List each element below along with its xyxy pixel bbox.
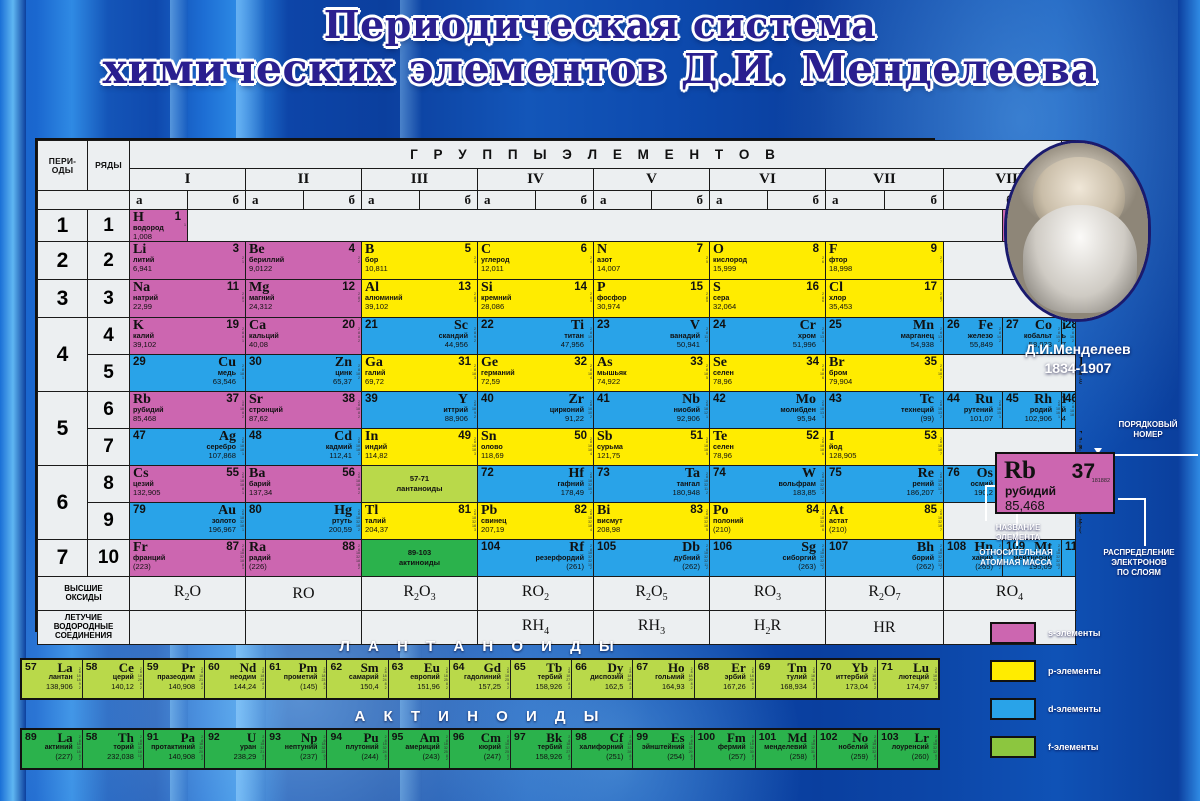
element-C[interactable]: C6углерод12,01124 bbox=[478, 242, 594, 280]
element-symbol: Nd bbox=[240, 661, 257, 674]
header-IVb: б bbox=[536, 191, 594, 210]
element-name: цирконий bbox=[550, 406, 584, 413]
legend-swatch-p bbox=[990, 660, 1036, 682]
element-mass: 150,4 bbox=[360, 683, 379, 690]
element-Er-68[interactable]: 68Erэрбий167,2628183082 bbox=[694, 659, 755, 699]
element-mass: (145) bbox=[300, 683, 317, 690]
element-Ca[interactable]: Ca20кальций40,082882 bbox=[246, 318, 362, 355]
element-name: цезий bbox=[133, 480, 154, 487]
element-Re[interactable]: Re75рений186,207281832132 bbox=[826, 466, 944, 503]
element-number: 59 bbox=[147, 661, 159, 673]
electron-shells: 281832112 bbox=[704, 467, 708, 501]
electron-shells: 2818321882 bbox=[356, 541, 360, 575]
element-Tb-65[interactable]: 65Tbтербий158,92628182782 bbox=[511, 659, 572, 699]
element-name: астат bbox=[829, 517, 848, 524]
electron-shells: 2818187 bbox=[938, 430, 942, 464]
element-Pa-91[interactable]: 91Paпротактиний140,9082818322092 bbox=[143, 729, 204, 769]
period-2: 2 bbox=[38, 242, 88, 280]
element-Pb[interactable]: Pb82свинец207,19281832184 bbox=[478, 503, 594, 540]
element-Li[interactable]: Li3литий6,94121 bbox=[130, 242, 246, 280]
element-U-92[interactable]: 92Uуран238,292818322192 bbox=[205, 729, 266, 769]
element-symbol: Pa bbox=[181, 731, 195, 744]
element-name: технеций bbox=[901, 406, 934, 413]
element-La-57[interactable]: 57Laлантан138,90628181892 bbox=[21, 659, 82, 699]
oxide-IV: RO2 bbox=[478, 577, 594, 611]
element-Tm-69[interactable]: 69Tmтулий168,93428183182 bbox=[755, 659, 816, 699]
element-Mo[interactable]: Mo42молибден95,942818131 bbox=[710, 392, 826, 429]
element-Cl[interactable]: Cl17хлор35,453287 bbox=[826, 280, 944, 318]
element-mass: (258) bbox=[790, 753, 807, 760]
element-number: 92 bbox=[208, 731, 220, 743]
electron-shells: 24 bbox=[590, 243, 592, 278]
element-V[interactable]: V23ванадий50,94128112 bbox=[594, 318, 710, 355]
element-Pr-59[interactable]: 59Prпразеодим140,90828182182 bbox=[143, 659, 204, 699]
element-K[interactable]: K19калий39,1022881 bbox=[130, 318, 246, 355]
element-mass: 44,956 bbox=[445, 341, 468, 349]
element-number: 7 bbox=[697, 243, 703, 255]
element-number: 40 bbox=[481, 393, 494, 405]
element-name: самарий bbox=[349, 674, 379, 681]
legend-swatch-f bbox=[990, 736, 1036, 758]
element-Ce-58[interactable]: 58Ceцерий140,1228182082 bbox=[82, 659, 143, 699]
element-name: гольмий bbox=[655, 674, 684, 681]
element-mass: 51,996 bbox=[793, 341, 816, 349]
element-Na[interactable]: Na11натрий22,99281 bbox=[130, 280, 246, 318]
element-mass: 79,904 bbox=[829, 378, 852, 386]
element-Bh[interactable]: Bh107борий(262)28183232132 bbox=[826, 540, 944, 577]
header-IIIb: б bbox=[420, 191, 478, 210]
legend-label-d: d-элементы bbox=[1048, 704, 1101, 714]
header-group-VII: VII bbox=[826, 169, 944, 191]
element-number: 79 bbox=[133, 504, 146, 516]
electron-shells: 286 bbox=[822, 281, 824, 316]
element-number: 66 bbox=[575, 661, 587, 673]
element-Ge[interactable]: Ge32германий72,5928184 bbox=[478, 355, 594, 392]
element-symbol: Eu bbox=[424, 661, 440, 674]
element-Zn[interactable]: Zn30цинк65,3728182 bbox=[246, 355, 362, 392]
element-Al[interactable]: Al13алюминий39,102283 bbox=[362, 280, 478, 318]
element-Rf[interactable]: Rf104резерфордий(261)28183232102 bbox=[478, 540, 594, 577]
element-number: 52 bbox=[806, 430, 819, 442]
element-Hg[interactable]: Hg80ртуть200,59281832182 bbox=[246, 503, 362, 540]
element-Cs[interactable]: Cs55цезий132,90528181881 bbox=[130, 466, 246, 503]
electron-shells: 2818182 bbox=[356, 430, 360, 464]
row-1: 1 bbox=[88, 210, 130, 242]
row-3: 3 bbox=[88, 280, 130, 318]
element-Ta[interactable]: Ta73тангал180,948281832112 bbox=[594, 466, 710, 503]
legend-item-s: s-элементы bbox=[990, 622, 1100, 644]
element-mass: (243) bbox=[423, 753, 440, 760]
oxide-V: R2O5 bbox=[594, 577, 710, 611]
element-Es-99[interactable]: 99Esэйнштейний(254)2818322982 bbox=[633, 729, 694, 769]
element-name: прометий bbox=[284, 674, 318, 681]
element-number: 88 bbox=[342, 541, 355, 553]
header-rows: РЯДЫ bbox=[88, 141, 130, 191]
legend-item-d: d-элементы bbox=[990, 698, 1101, 720]
element-name: нобелий bbox=[838, 744, 868, 751]
element-name: резерфордий bbox=[536, 554, 584, 561]
element-number: 75 bbox=[829, 467, 842, 479]
element-I[interactable]: I53йод128,9052818187 bbox=[826, 429, 944, 466]
row-8: 8 bbox=[88, 466, 130, 503]
element-number: 21 bbox=[365, 319, 378, 331]
element-mass: 40,08 bbox=[249, 341, 268, 349]
element-name: палладий bbox=[1062, 406, 1066, 413]
element-number: 107 bbox=[829, 541, 848, 553]
element-name: фосфор bbox=[597, 294, 626, 301]
element-Sr[interactable]: Sr38стронций87,62281882 bbox=[246, 392, 362, 429]
element-Dy-66[interactable]: 66Dyдиспозий162,528182882 bbox=[572, 659, 633, 699]
element-number: 58 bbox=[86, 731, 98, 743]
element-number: 1 bbox=[175, 211, 181, 223]
electron-shells: 28182082 bbox=[138, 661, 142, 697]
element-symbol: Lu bbox=[913, 661, 929, 674]
element-Mg[interactable]: Mg12магний24,312282 bbox=[246, 280, 362, 318]
element-mass: 144,24 bbox=[234, 683, 257, 690]
element-Lr-103[interactable]: 103Lrлоуренсий(260)2818323292 bbox=[878, 729, 939, 769]
element-Tc[interactable]: Tc43технеций(99)2818132 bbox=[826, 392, 944, 429]
element-O[interactable]: O8кислород15,99926 bbox=[710, 242, 826, 280]
element-mass: 238,29 bbox=[234, 753, 257, 760]
electron-shells: 26 bbox=[822, 243, 824, 278]
element-number: 81 bbox=[458, 504, 471, 516]
electron-shells: 2818322482 bbox=[383, 731, 387, 767]
element-Sg[interactable]: Sg106сиборгий(263)28183232122 bbox=[710, 540, 826, 577]
element-name: железо bbox=[968, 332, 993, 339]
element-number: 83 bbox=[690, 504, 703, 516]
element-H[interactable]: H 1 водород 1,008 1 bbox=[130, 210, 188, 242]
electron-shells: 28186 bbox=[820, 356, 824, 390]
element-No-102[interactable]: 102Noнобелий(259)2818323282 bbox=[816, 729, 877, 769]
element-Mn[interactable]: Mn25марганец54,93828132 bbox=[826, 318, 944, 355]
electron-shells: 2818322292 bbox=[321, 731, 325, 767]
element-Y[interactable]: Y39иттрий88,906281892 bbox=[362, 392, 478, 429]
element-name: гафний bbox=[558, 480, 584, 487]
header-groups-title: Г Р У П П Ы Э Л Е М Е Н Т О В bbox=[130, 141, 1062, 169]
element-Ba[interactable]: Ba56барий137,3428181882 bbox=[246, 466, 362, 503]
element-number: 98 bbox=[575, 731, 587, 743]
electron-shells: 2818183 bbox=[472, 430, 476, 464]
element-At[interactable]: At85астат(210)281832187 bbox=[826, 503, 944, 540]
element-symbol: Pr bbox=[181, 661, 195, 674]
element-W[interactable]: W74вольфрам183,85281832122 bbox=[710, 466, 826, 503]
electron-shells: 2818132 bbox=[938, 393, 942, 427]
element-Cu[interactable]: Cu29медь63,54628181 bbox=[130, 355, 246, 392]
element-Ti[interactable]: Ti22титан47,95628102 bbox=[478, 318, 594, 355]
element-Zr[interactable]: Zr40цирконий91,222818102 bbox=[478, 392, 594, 429]
example-electron-shells: 181882 bbox=[1092, 478, 1110, 484]
element-mass: (257) bbox=[728, 753, 745, 760]
electron-shells: 2818321881 bbox=[240, 541, 244, 575]
electron-shells: 285 bbox=[706, 281, 708, 316]
element-name: литий bbox=[133, 256, 154, 263]
header-group-V: V bbox=[594, 169, 710, 191]
element-mass: 158,926 bbox=[535, 683, 562, 690]
element-number: 13 bbox=[458, 281, 471, 293]
actinide-range: 89-103 bbox=[408, 548, 431, 557]
electron-shells: 28131 bbox=[820, 319, 824, 353]
actinide-placeholder[interactable]: 89-103 актиноиды bbox=[362, 540, 478, 577]
element-mass: 6,941 bbox=[133, 265, 152, 273]
element-Fr[interactable]: Fr87франций(223)2818321881 bbox=[130, 540, 246, 577]
element-name: лютеций bbox=[899, 674, 929, 681]
legend-item-f: f-элементы bbox=[990, 736, 1098, 758]
element-Bi[interactable]: Bi83висмут208,98281832185 bbox=[594, 503, 710, 540]
element-Cr[interactable]: Cr24хром51,99628131 bbox=[710, 318, 826, 355]
element-number: 45 bbox=[1006, 393, 1019, 405]
electron-shells: 2818322592 bbox=[505, 731, 509, 767]
callout-atomic-number: ПОРЯДКОВЫЙ НОМЕР bbox=[1100, 420, 1196, 440]
element-name: золото bbox=[212, 517, 236, 524]
element-Br[interactable]: Br35бром79,90428187 bbox=[826, 355, 944, 392]
element-number: 100 bbox=[698, 731, 716, 743]
element-mass: 87,62 bbox=[249, 415, 268, 423]
element-mass: 112,41 bbox=[329, 452, 352, 460]
element-Nd-60[interactable]: 60Ndнеодим144,2428182282 bbox=[205, 659, 266, 699]
element-Pu-94[interactable]: 94Puплутоний(244)2818322482 bbox=[327, 729, 388, 769]
mendeleev-caption: Д.И.Менделеев 1834-1907 bbox=[960, 340, 1196, 378]
element-Md-101[interactable]: 101Mdменделевий(258)2818323182 bbox=[755, 729, 816, 769]
element-mass: 15,999 bbox=[713, 265, 736, 273]
element-Be[interactable]: Be4бериллий9,012222 bbox=[246, 242, 362, 280]
header-spacer bbox=[38, 191, 130, 210]
element-mass: (210) bbox=[713, 526, 731, 534]
header-IIa: а bbox=[246, 191, 304, 210]
header-IIb: б bbox=[304, 191, 362, 210]
header-VIIa: а bbox=[826, 191, 885, 210]
element-Am-95[interactable]: 95Amамериций(243)2818322582 bbox=[388, 729, 449, 769]
element-mass: 200,59 bbox=[329, 526, 352, 534]
element-number: 97 bbox=[514, 731, 526, 743]
element-number: 55 bbox=[226, 467, 239, 479]
electron-shells: 28182182 bbox=[199, 661, 203, 697]
element-Gd-64[interactable]: 64Gdгадолиний157,2528182592 bbox=[449, 659, 510, 699]
element-mass: 91,22 bbox=[565, 415, 584, 423]
element-F[interactable]: F9фтор18,99827 bbox=[826, 242, 944, 280]
electron-shells: 28185 bbox=[704, 356, 708, 390]
element-Si[interactable]: Si14кремний28,086284 bbox=[478, 280, 594, 318]
element-name: бор bbox=[365, 256, 378, 263]
element-number: 26 bbox=[947, 319, 960, 331]
element-mass: 10,811 bbox=[365, 265, 388, 273]
element-number: 47 bbox=[133, 430, 146, 442]
electron-shells: 281882 bbox=[356, 393, 360, 427]
element-Ru[interactable]: Ru44рутений101,072818151 bbox=[944, 392, 1003, 429]
element-name: америций bbox=[405, 744, 439, 751]
element-number: 4 bbox=[349, 243, 355, 255]
element-number: 29 bbox=[133, 356, 146, 368]
element-P[interactable]: P15фосфор30,974285 bbox=[594, 280, 710, 318]
element-Rh[interactable]: Rh45родий102,9062818161 bbox=[1003, 392, 1062, 429]
element-Po[interactable]: Po84полоний(210)281832186 bbox=[710, 503, 826, 540]
oxide-II: RO bbox=[246, 577, 362, 611]
element-mass: 114,82 bbox=[365, 452, 388, 460]
electron-shells: 281832183 bbox=[472, 504, 476, 538]
electron-shells: 28182782 bbox=[566, 661, 570, 697]
element-mass: (227) bbox=[55, 753, 72, 760]
element-Cm-96[interactable]: 96Cmкюрий(247)2818322592 bbox=[449, 729, 510, 769]
element-mass: 118,69 bbox=[481, 452, 504, 460]
element-Pm-61[interactable]: 61Pmпрометий(145)28182382 bbox=[266, 659, 327, 699]
element-Ho-67[interactable]: 67Hoгольмий164,9328182982 bbox=[633, 659, 694, 699]
element-symbol: Bk bbox=[546, 731, 562, 744]
element-mass: 88,906 bbox=[445, 415, 468, 423]
element-Cf-98[interactable]: 98Cfхалифорний(251)2818322882 bbox=[572, 729, 633, 769]
electron-shells: 2818181 bbox=[240, 430, 244, 464]
element-Yb-70[interactable]: 70Ybиттербий173,0428183282 bbox=[816, 659, 877, 699]
example-element-Rb[interactable]: Rb 37 рубидий 85,468 181882 bbox=[995, 452, 1115, 514]
element-Se[interactable]: Se34селен78,9628186 bbox=[710, 355, 826, 392]
element-mass: 183,85 bbox=[793, 489, 816, 497]
header-Ia: а bbox=[130, 191, 188, 210]
element-name: хлор bbox=[829, 294, 846, 301]
element-Ag[interactable]: Ag47серебро107,8682818181 bbox=[130, 429, 246, 466]
element-name: уран bbox=[240, 744, 256, 751]
element-symbol: Er bbox=[731, 661, 745, 674]
element-Sb[interactable]: Sb51сурьма121,752818185 bbox=[594, 429, 710, 466]
element-mass: 47,956 bbox=[561, 341, 584, 349]
row-6: 6 bbox=[88, 392, 130, 429]
element-name: гадолиний bbox=[464, 674, 501, 681]
actinide-label: актиноиды bbox=[399, 558, 440, 567]
element-Tl[interactable]: Tl81талий204,37281832183 bbox=[362, 503, 478, 540]
element-name: мышьяк bbox=[597, 369, 627, 376]
row-4: 4 bbox=[88, 318, 130, 355]
electron-shells: 281892 bbox=[472, 393, 476, 427]
element-Sc[interactable]: Sc21скандий44,9562892 bbox=[362, 318, 478, 355]
element-name: бериллий bbox=[249, 256, 284, 263]
element-Au[interactable]: Au79золото196,967281832181 bbox=[130, 503, 246, 540]
element-name: лоуренсий bbox=[892, 744, 929, 751]
element-In[interactable]: In49индий114,822818183 bbox=[362, 429, 478, 466]
electron-shells: 2818102 bbox=[588, 393, 592, 427]
element-mass: (244) bbox=[361, 753, 378, 760]
element-Lu-71[interactable]: 71Luлютеций174,9728183292 bbox=[878, 659, 939, 699]
element-N[interactable]: N7азот14,00725 bbox=[594, 242, 710, 280]
header-group-IV: IV bbox=[478, 169, 594, 191]
element-Sm-62[interactable]: 62Smсамарий150,428182482 bbox=[327, 659, 388, 699]
element-mass: 32,064 bbox=[713, 303, 736, 311]
element-number: 11 bbox=[227, 281, 239, 293]
electron-shells: 2818322582 bbox=[444, 731, 448, 767]
element-mass: (262) bbox=[682, 563, 700, 571]
element-mass: 12,011 bbox=[481, 265, 504, 273]
lanthanide-label: лантаноиды bbox=[396, 484, 442, 493]
electron-shells: 28183292 bbox=[933, 661, 937, 697]
element-Sn[interactable]: Sn50олово118,692818184 bbox=[478, 429, 594, 466]
element-mass: 101,07 bbox=[970, 415, 993, 423]
element-mass: 106,4 bbox=[1062, 415, 1066, 423]
element-As[interactable]: As33мышьяк74,92228185 bbox=[594, 355, 710, 392]
element-Ga[interactable]: Ga31галий69,7228183 bbox=[362, 355, 478, 392]
electron-shells: 284 bbox=[590, 281, 592, 316]
element-Pd[interactable]: Pd46палладий106,4281818 bbox=[1062, 392, 1076, 429]
electron-shells: 28182592 bbox=[505, 661, 509, 697]
element-name: хром bbox=[798, 332, 816, 339]
element-name: диспозий bbox=[590, 674, 623, 681]
element-S[interactable]: S16сера32,064286 bbox=[710, 280, 826, 318]
electron-shells: 28183082 bbox=[750, 661, 754, 697]
element-name: ниобий bbox=[674, 406, 700, 413]
element-number: 94 bbox=[330, 731, 342, 743]
element-La-89[interactable]: 89Laактиний(227)2818321892 bbox=[21, 729, 82, 769]
element-mass: 92,906 bbox=[677, 415, 700, 423]
electron-shells: 28181881 bbox=[240, 467, 244, 501]
table-row-period3: 3 3 Na11натрий22,99281 Mg12магний24,3122… bbox=[38, 280, 1076, 318]
element-Hf[interactable]: Hf72гафний178,49281832102 bbox=[478, 466, 594, 503]
oxide-VIII: RO4 bbox=[944, 577, 1076, 611]
lanthanide-band-title: Л А Н Т А Н О И Д Ы bbox=[20, 638, 940, 655]
legend-label-p: p-элементы bbox=[1048, 666, 1101, 676]
element-number: 51 bbox=[690, 430, 703, 442]
electron-shells: 2818322882 bbox=[627, 731, 631, 767]
element-symbol: Np bbox=[301, 731, 318, 744]
element-B[interactable]: B5бор10,81123 bbox=[362, 242, 478, 280]
element-mass: 132,905 bbox=[133, 489, 160, 497]
element-number: 105 bbox=[597, 541, 616, 553]
table-row-period6b: 9 Au79золото196,967281832181 Hg80ртуть20… bbox=[38, 503, 1076, 540]
element-Rb[interactable]: Rb37рубидий85,468181882 bbox=[130, 392, 246, 429]
element-Bk-97[interactable]: 97Bkтербий158,9262818322782 bbox=[511, 729, 572, 769]
element-name: талий bbox=[365, 517, 386, 524]
electron-shells: 2818322782 bbox=[566, 731, 570, 767]
element-number: 20 bbox=[342, 319, 355, 331]
element-name: иттрий bbox=[443, 406, 468, 413]
row-9: 9 bbox=[88, 503, 130, 540]
element-Te[interactable]: Te52селен78,962818186 bbox=[710, 429, 826, 466]
lanthanide-placeholder[interactable]: 57-71 лантаноиды bbox=[362, 466, 478, 503]
element-number: 38 bbox=[342, 393, 355, 405]
element-Eu-63[interactable]: 63Euевропий151,9628182582 bbox=[388, 659, 449, 699]
element-Nb[interactable]: Nb41ниобий92,9062818121 bbox=[594, 392, 710, 429]
oxides-label: ВЫСШИЕОКСИДЫ bbox=[38, 577, 130, 611]
element-name: ванадий bbox=[670, 332, 700, 339]
element-Cd[interactable]: Cd48кадмий112,412818182 bbox=[246, 429, 362, 466]
element-mass: 204,37 bbox=[365, 526, 388, 534]
element-mass: 39,102 bbox=[133, 341, 156, 349]
element-symbol: Tb bbox=[546, 661, 562, 674]
electron-shells: 28182482 bbox=[383, 661, 387, 697]
element-name: полоний bbox=[713, 517, 744, 524]
electron-shells: 28183232132 bbox=[938, 541, 942, 575]
element-Ra[interactable]: Ra88радий(226)2818321882 bbox=[246, 540, 362, 577]
table-row-period2: 2 2 Li3литий6,94121 Be4бериллий9,012222 … bbox=[38, 242, 1076, 280]
element-mass: 65,37 bbox=[333, 378, 352, 386]
element-name: сиборгий bbox=[783, 554, 816, 561]
electron-shells: 2818322982 bbox=[689, 731, 693, 767]
element-mass: 78,96 bbox=[713, 378, 732, 386]
element-Th-58[interactable]: 58Thторий232,03828183218102 bbox=[82, 729, 143, 769]
legend-label-s: s-элементы bbox=[1048, 628, 1100, 638]
element-number: 57 bbox=[25, 661, 37, 673]
element-number: 32 bbox=[574, 356, 587, 368]
row-7: 7 bbox=[88, 429, 130, 466]
element-mass: (263) bbox=[798, 563, 816, 571]
element-Fm-100[interactable]: 100Fmфермий(257)2818323082 bbox=[694, 729, 755, 769]
element-name: эрбий bbox=[725, 674, 746, 681]
header-group-I: I bbox=[130, 169, 246, 191]
header-VIa: а bbox=[710, 191, 768, 210]
electron-shells: 2818121 bbox=[704, 393, 708, 427]
legend-swatch-d bbox=[990, 698, 1036, 720]
electron-shells: 281832187 bbox=[938, 504, 942, 538]
element-Np-93[interactable]: 93Npнептуний(237)2818322292 bbox=[266, 729, 327, 769]
element-Db[interactable]: Db105дубний(262)28183232112 bbox=[594, 540, 710, 577]
electron-shells: 28187 bbox=[938, 356, 942, 390]
element-mass: 158,926 bbox=[535, 753, 562, 760]
element-name: тангал bbox=[677, 480, 700, 487]
electron-shells: 287 bbox=[940, 281, 942, 316]
